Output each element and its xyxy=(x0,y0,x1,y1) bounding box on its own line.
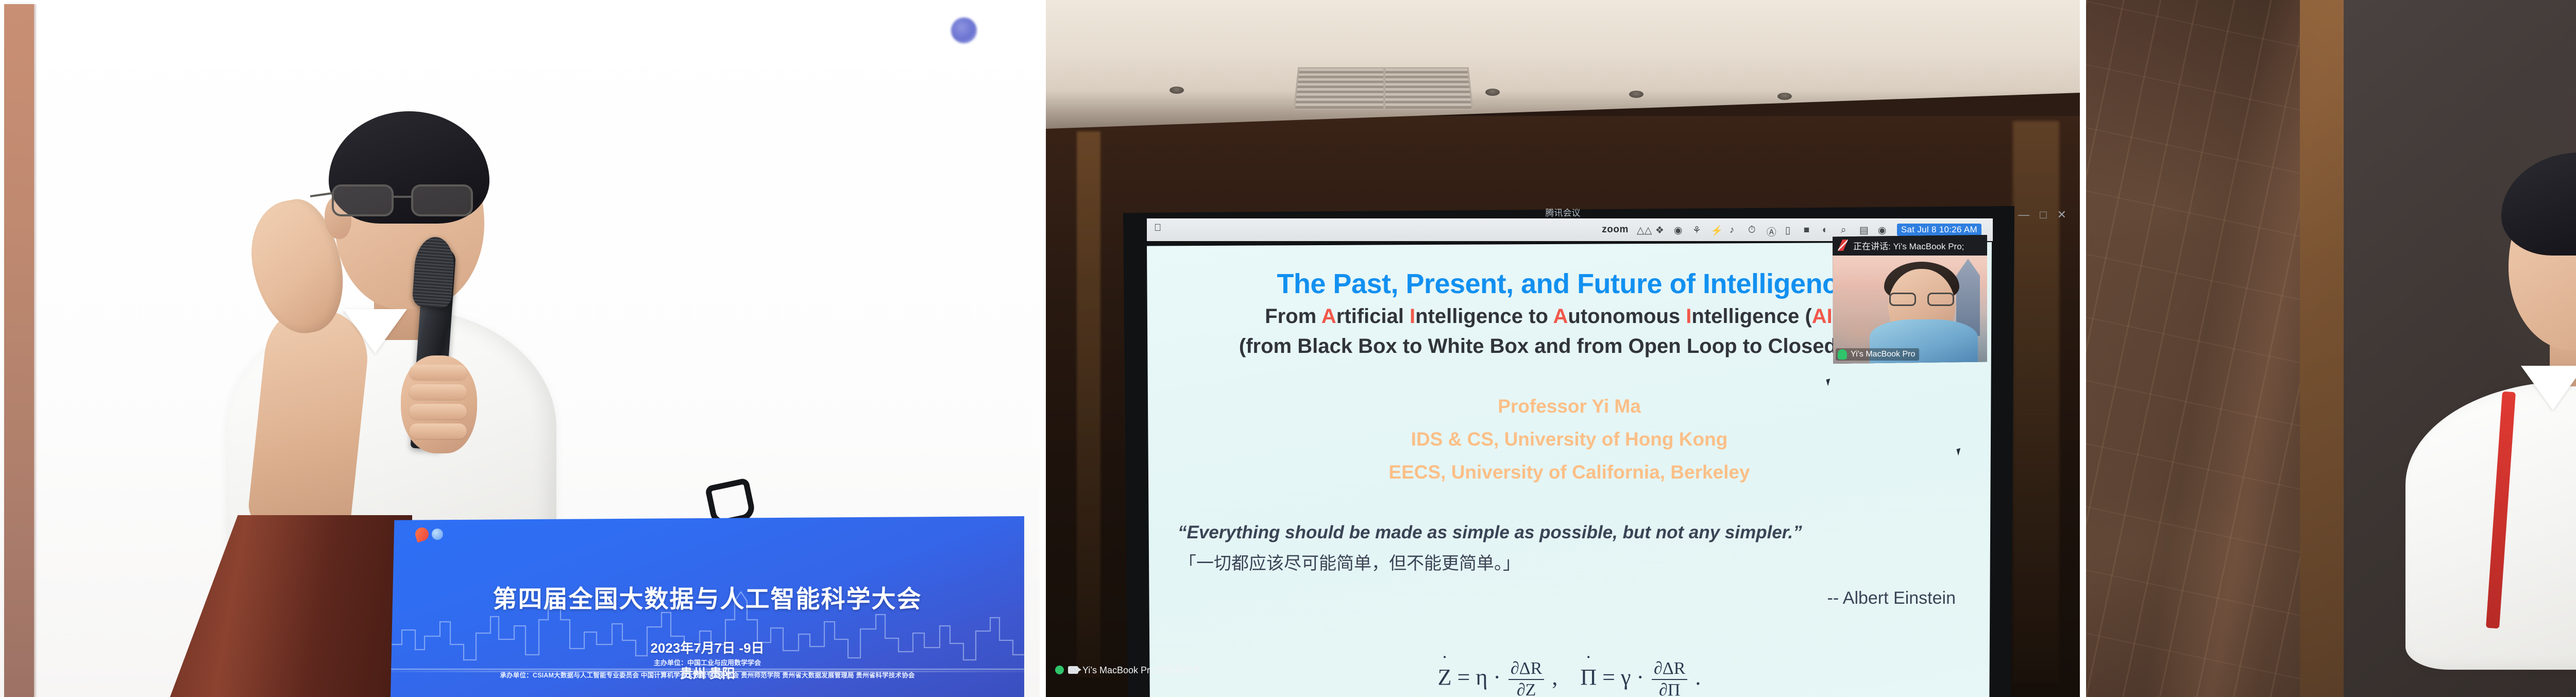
menubar-clock[interactable]: Sat Jul 8 10:26 AM xyxy=(1897,224,1981,236)
conference-banner: 第四届全国大数据与人工智能科学大会 2023年7月7日 -9日 贵州 贵阳 主办… xyxy=(391,516,1024,697)
gold-wall-band xyxy=(2300,0,2346,697)
eq-dot-1: · xyxy=(1493,665,1501,690)
right-speaker-photo: 第四届全国大数据与人工智能科学大会 2023年7月7日 -9日 贵州 贵阳 主办… xyxy=(2086,0,2576,697)
siri-icon[interactable]: ◉ xyxy=(1878,225,1889,235)
eq-coef-gamma: γ xyxy=(1621,665,1631,690)
flame-logo-icon xyxy=(414,526,431,543)
mountains-icon[interactable]: △△ xyxy=(1637,225,1648,235)
close-icon[interactable]: ✕ xyxy=(2057,208,2066,222)
minimize-icon[interactable]: — xyxy=(2018,208,2029,222)
window-controls[interactable]: — □ ✕ xyxy=(2018,208,2066,222)
mouse-cursor-icon xyxy=(1957,448,1964,455)
banner-title: 第四届全国大数据与人工智能科学大会 xyxy=(391,579,1024,615)
eq-numerator-1: ∂ΔR xyxy=(1509,659,1544,680)
eq-fraction-2: ∂ΔR ∂Π xyxy=(1652,659,1687,697)
mouse-cursor-icon xyxy=(1827,379,1834,385)
clock-icon[interactable]: ⏱ xyxy=(1748,225,1759,235)
eq-period: . xyxy=(1695,665,1701,690)
slide-title-highlight: I xyxy=(1686,305,1691,328)
share-status-text: Yi’s MacBook Pro的屏幕共享 xyxy=(1082,663,1201,676)
zoom-video-feed[interactable]: Yi’s MacBook Pro xyxy=(1833,256,1987,364)
slide-quote-chinese: 「一切都应该尽可能简单，但不能更简单。」 xyxy=(1179,549,1961,574)
headphone-icon[interactable]: ♪ xyxy=(1730,225,1740,235)
banner-logo xyxy=(415,528,443,541)
slide-title-plain: ntelligence ( xyxy=(1691,305,1811,328)
panel-seam xyxy=(2080,0,2086,697)
apple-menu-icon[interactable]:  xyxy=(1154,223,1162,234)
shirt-collar xyxy=(343,309,407,353)
share-screen-icon xyxy=(1068,666,1078,674)
screen-share-status-bar: Yi’s MacBook Pro的屏幕共享 xyxy=(1055,663,1201,676)
eq-equals-1: = xyxy=(1457,665,1470,690)
slide-title-plain: utonomous xyxy=(1568,305,1686,328)
three-panel-photo-composite: 第四届全国大数据与人工智能科学大会 2023年7月7日 -9日 贵州 贵阳 主办… xyxy=(0,0,2576,697)
eq-lhs-pi: Π xyxy=(1580,664,1597,690)
zoom-participant-name-badge: Yi’s MacBook Pro xyxy=(1836,348,1919,361)
shirt-collar xyxy=(2521,366,2576,410)
menubar-app-name[interactable]: zoom xyxy=(1602,224,1629,235)
speaker-figure xyxy=(2395,103,2576,618)
projection-screen-photo: 腾讯会议 — □ ✕  zoom △△ ❖ ◉ ⚘ ⚡ ♪ ⏱ Ⓐ ▯ ■ ◐… xyxy=(1046,0,2080,697)
maximize-icon[interactable]: □ xyxy=(2040,208,2046,222)
eq-comma: , xyxy=(1552,665,1557,690)
marble-veining xyxy=(2086,0,2302,697)
slide-title-highlight: A xyxy=(1553,305,1568,328)
slide-author-affiliation-1: IDS & CS, University of Hong Kong xyxy=(1147,429,1992,450)
dropbox-icon[interactable]: ❖ xyxy=(1655,225,1666,235)
blue-projector-dot-icon xyxy=(951,18,977,43)
zoom-speaking-label: 正在讲话: Yi’s MacBook Pro; xyxy=(1853,239,1964,252)
eq-dot-2: · xyxy=(1636,665,1644,690)
downlight-icon xyxy=(1777,93,1792,100)
downlight-icon xyxy=(1629,91,1643,98)
hand-holding-microphone xyxy=(401,355,477,453)
zoom-participant-name: Yi’s MacBook Pro xyxy=(1851,350,1915,359)
banner-cohost-line: 承办单位：CSIAM大数据与人工智能专业委员会 中国计算机学会大数据专家委员会 … xyxy=(391,670,1024,679)
input-source-icon[interactable]: Ⓐ xyxy=(1767,225,1777,235)
downlight-icon xyxy=(1485,89,1500,96)
eq-denominator-1: ∂Z xyxy=(1509,680,1544,697)
globe-logo-icon xyxy=(432,529,443,540)
banner-host-line: 主办单位：中国工业与应用数学学会 xyxy=(391,657,1024,667)
left-speaker-photo: 第四届全国大数据与人工智能科学大会 2023年7月7日 -9日 贵州 贵阳 主办… xyxy=(0,0,1040,697)
bolt-icon[interactable]: ⚡ xyxy=(1711,225,1722,235)
hair xyxy=(2501,152,2576,256)
eq-denominator-2: ∂Π xyxy=(1652,680,1687,697)
eq-coef-eta: η xyxy=(1476,665,1487,690)
display-icon[interactable]: ▯ xyxy=(1785,225,1796,235)
banner-date: 2023年7月7日 -9日 xyxy=(391,638,1024,657)
window-title: 腾讯会议 xyxy=(1046,206,2080,218)
wifi-icon[interactable]: ◐ xyxy=(1822,225,1833,235)
slide-quote-attribution: -- Albert Einstein xyxy=(1147,588,1956,608)
slide-equation: Z = η · ∂ΔR ∂Z , Π = γ · ∂ΔR ∂Π . xyxy=(1147,659,1992,697)
slide-author-name: Professor Yi Ma xyxy=(1147,396,1992,417)
zoom-participant-thumbnail[interactable]: 正在讲话: Yi’s MacBook Pro; Yi’s MacBook Pro xyxy=(1833,235,1987,364)
wooden-pilaster xyxy=(4,4,34,697)
eq-numerator-2: ∂ΔR xyxy=(1652,659,1687,680)
zoom-speaking-bar: 正在讲话: Yi’s MacBook Pro; xyxy=(1833,235,1987,256)
eq-fraction-1: ∂ΔR ∂Z xyxy=(1509,659,1544,697)
share-active-dot-icon xyxy=(1055,666,1064,674)
speaking-indicator-icon xyxy=(1838,240,1848,251)
slide-title-plain: ntelligence to xyxy=(1415,305,1553,328)
shield-icon[interactable]: ⚘ xyxy=(1692,225,1703,235)
panel-seam xyxy=(1040,0,1046,697)
slide-title-highlight: I xyxy=(1410,305,1415,328)
slide-title-plain: rtificial xyxy=(1336,305,1410,328)
battery-icon[interactable]: ■ xyxy=(1804,225,1815,235)
slide-author-affiliation-2: EECS, University of California, Berkeley xyxy=(1147,462,1992,483)
control-center-icon[interactable]: ▤ xyxy=(1859,225,1870,235)
eyeglasses-icon xyxy=(329,184,483,218)
downlight-icon xyxy=(1170,87,1184,94)
eq-equals-2: = xyxy=(1602,665,1615,690)
slide-title-plain: From xyxy=(1265,305,1321,328)
ceiling-vent xyxy=(1293,67,1473,110)
microphone-icon[interactable] xyxy=(1838,349,1847,360)
slide-quote-english: “Everything should be made as simple as … xyxy=(1178,522,1961,543)
camera-record-icon[interactable]: ◉ xyxy=(1674,225,1685,235)
slide-title-highlight: A xyxy=(1321,305,1336,328)
participant-glasses-icon xyxy=(1889,293,1954,307)
search-icon[interactable]: ⌕ xyxy=(1841,225,1852,235)
menubar-status-icons[interactable]: △△ ❖ ◉ ⚘ ⚡ ♪ ⏱ Ⓐ ▯ ■ ◐ ⌕ ▤ ◉ xyxy=(1637,225,1889,235)
eq-lhs-z: Z xyxy=(1438,664,1452,690)
